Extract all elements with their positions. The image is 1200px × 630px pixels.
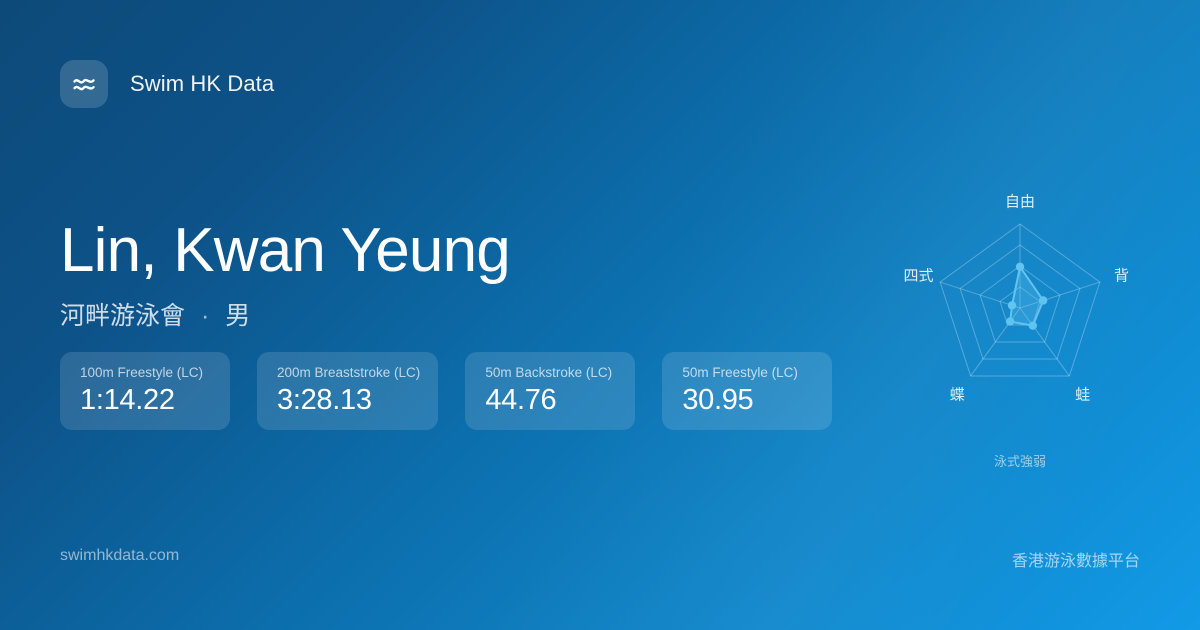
stat-value: 1:14.22 — [80, 385, 212, 415]
gender-label: 男 — [225, 302, 250, 330]
stroke-strength-radar-chart: 自由背蛙蝶四式 泳式強弱 — [860, 170, 1180, 470]
stat-value: 44.76 — [485, 385, 617, 415]
radar-data-area — [1010, 267, 1043, 326]
radar-axis-label-0: 自由 — [1005, 191, 1035, 212]
stat-label: 50m Backstroke (LC) — [485, 365, 617, 380]
radar-axis-label-3: 蝶 — [950, 384, 965, 405]
stat-card[interactable]: 50m Backstroke (LC) 44.76 — [465, 352, 635, 430]
club-name: 河畔游泳會 — [60, 302, 185, 330]
stat-card[interactable]: 50m Freestyle (LC) 30.95 — [662, 352, 832, 430]
stat-label: 200m Breaststroke (LC) — [277, 365, 420, 380]
brand-name: Swim HK Data — [130, 71, 274, 97]
stat-card-list: 100m Freestyle (LC) 1:14.22 200m Breasts… — [60, 352, 832, 430]
page-title: Lin, Kwan Yeung — [60, 218, 510, 283]
radar-axis-label-1: 背 — [1114, 265, 1129, 286]
radar-data-point — [1029, 321, 1037, 329]
footer-tagline: 香港游泳數據平台 — [1012, 547, 1140, 571]
radar-svg — [860, 170, 1180, 470]
stat-card[interactable]: 100m Freestyle (LC) 1:14.22 — [60, 352, 230, 430]
stat-value: 30.95 — [682, 385, 814, 415]
stat-label: 50m Freestyle (LC) — [682, 365, 814, 380]
radar-axis-label-4: 四式 — [903, 265, 933, 286]
stat-card[interactable]: 200m Breaststroke (LC) 3:28.13 — [257, 352, 438, 430]
radar-data-point — [1006, 317, 1014, 325]
og-card: Swim HK Data Lin, Kwan Yeung 河畔游泳會 · 男 1… — [0, 0, 1200, 630]
stat-label: 100m Freestyle (LC) — [80, 365, 212, 380]
meta-separator: · — [192, 302, 218, 330]
footer-site-url[interactable]: swimhkdata.com — [60, 547, 179, 565]
brand[interactable]: Swim HK Data — [60, 60, 274, 108]
hero: Lin, Kwan Yeung 河畔游泳會 · 男 — [60, 218, 510, 332]
wave-approx-icon — [60, 60, 108, 108]
radar-caption: 泳式強弱 — [994, 451, 1046, 470]
radar-data-point — [1039, 296, 1047, 304]
athlete-meta: 河畔游泳會 · 男 — [60, 296, 510, 332]
radar-data-point — [1016, 263, 1024, 271]
radar-data-point — [1008, 301, 1016, 309]
stat-value: 3:28.13 — [277, 385, 420, 415]
radar-axis-label-2: 蛙 — [1075, 384, 1090, 405]
